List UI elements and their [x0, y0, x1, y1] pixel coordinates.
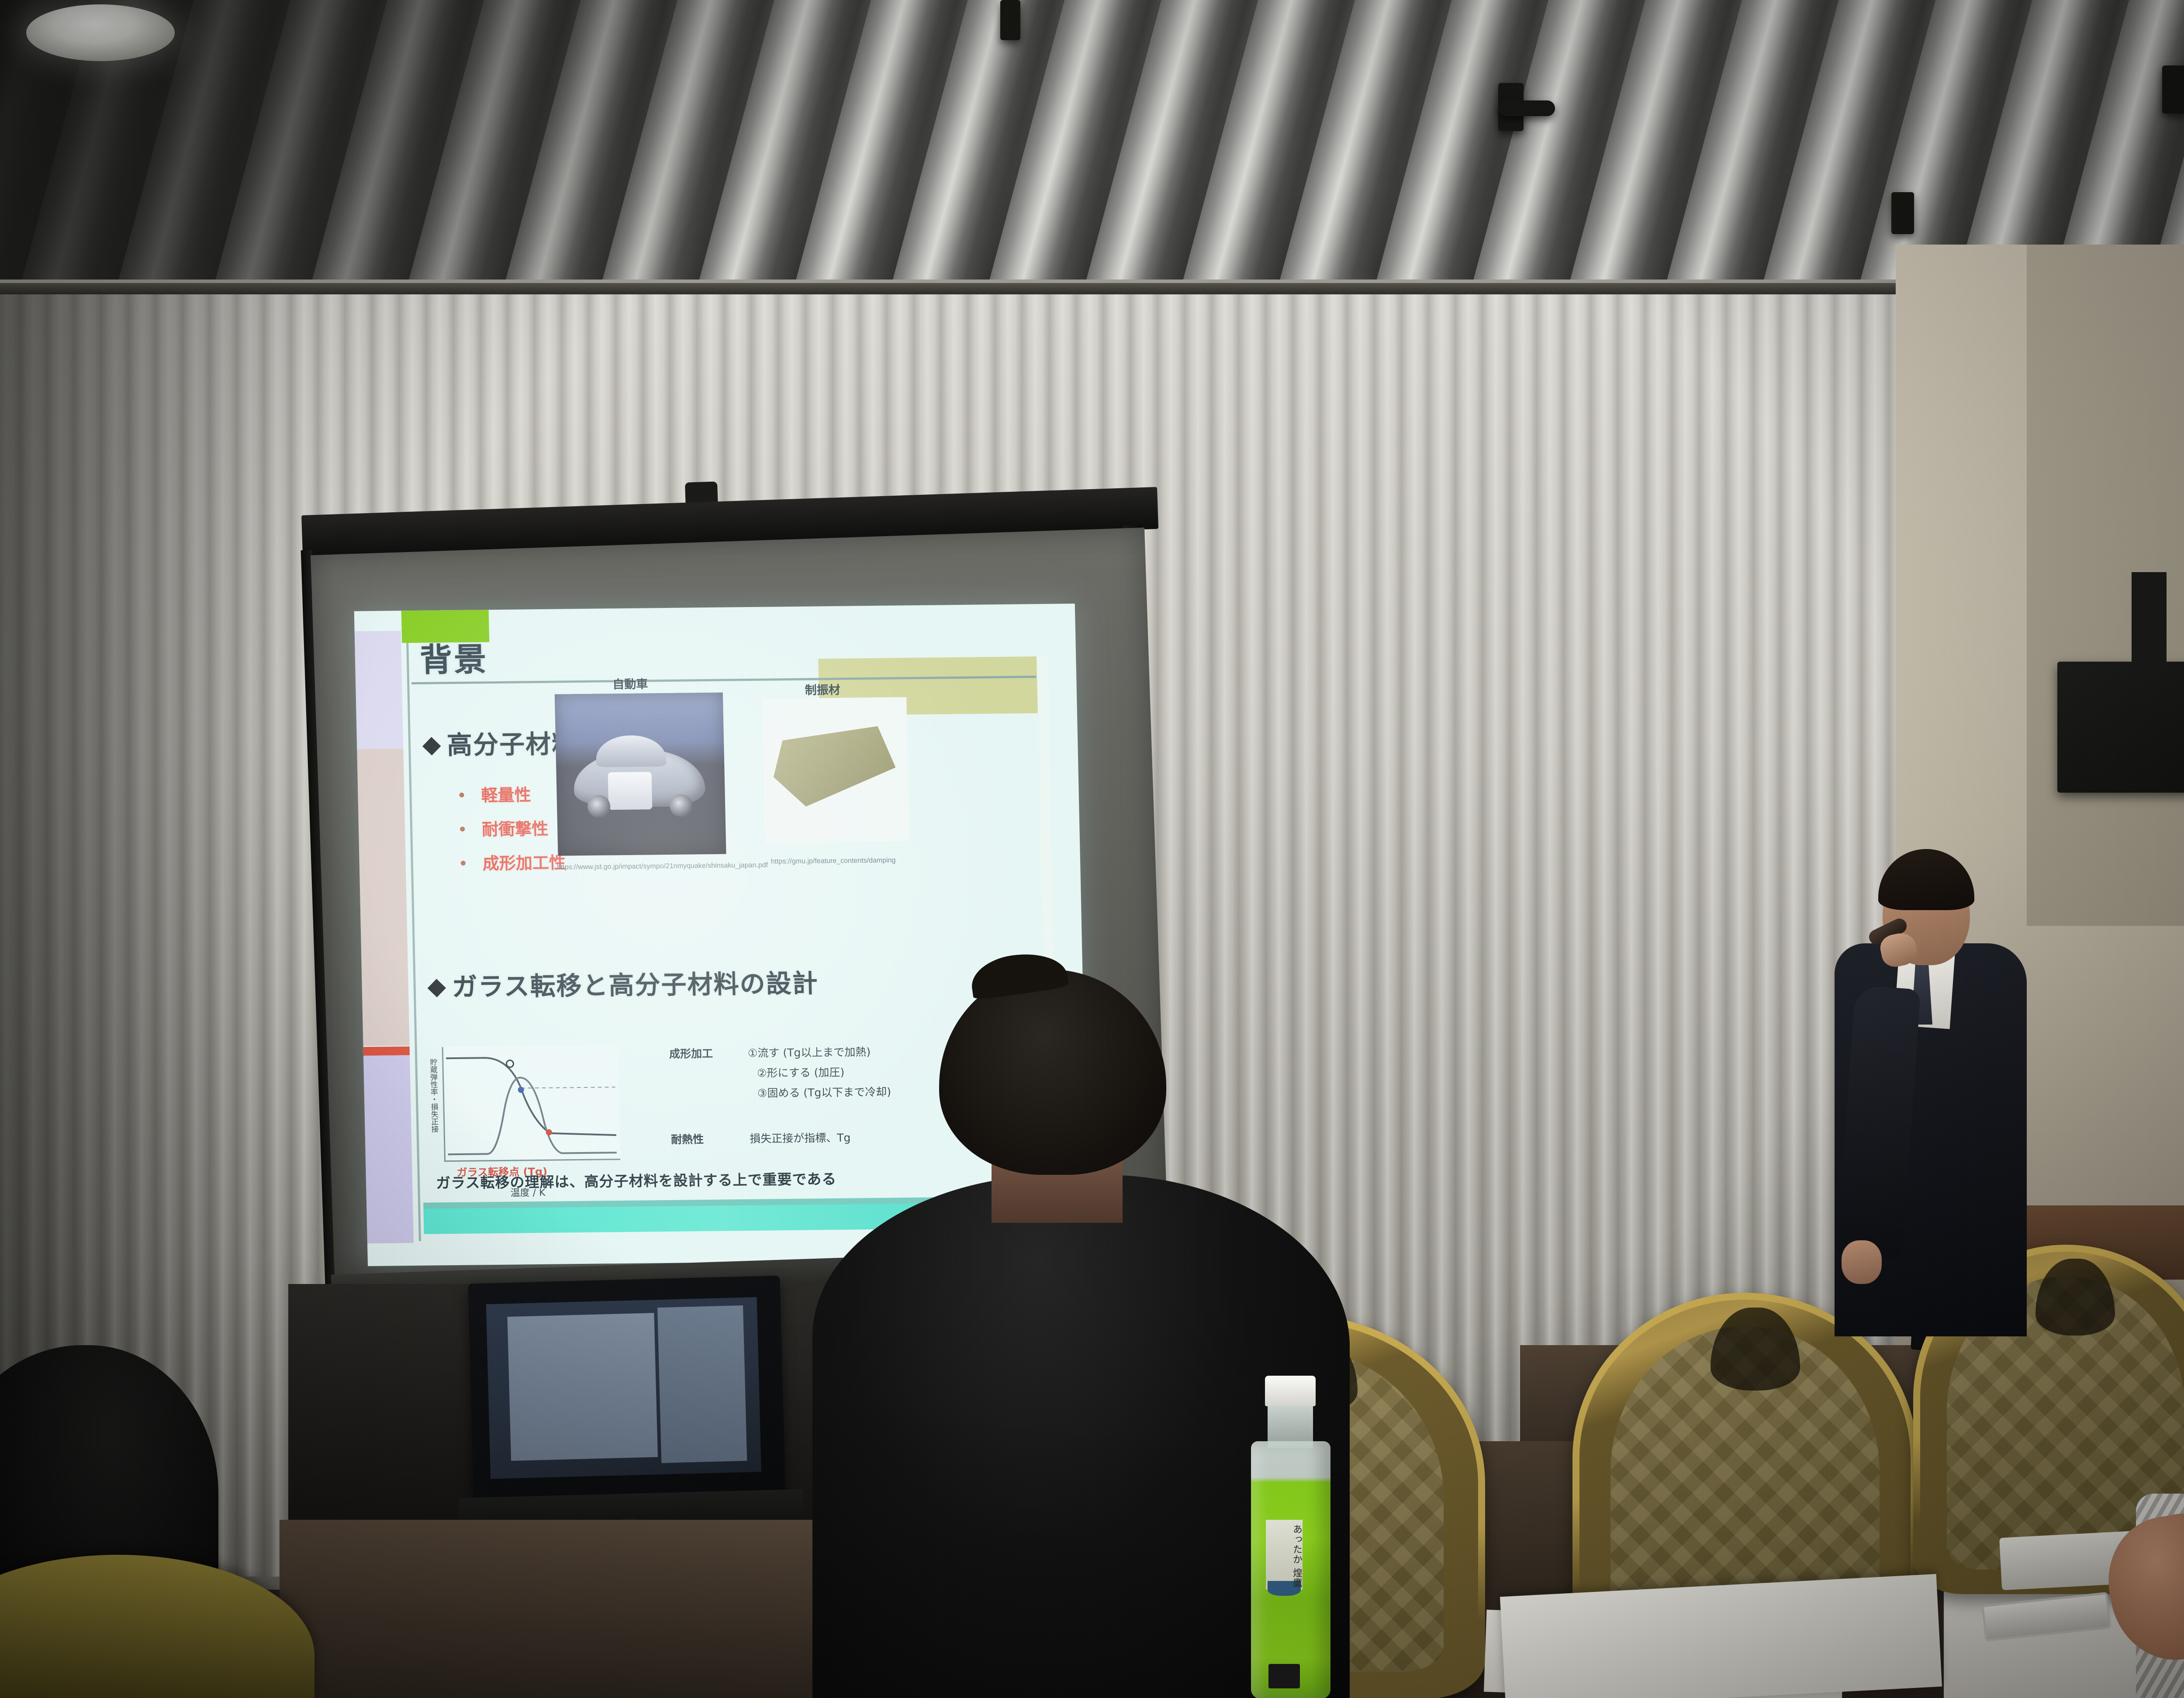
- image-caption-damper: 制振材: [805, 680, 840, 698]
- slide-sidebar-lavender: [355, 631, 404, 749]
- heat-resistance-label: 耐熱性: [671, 1130, 704, 1149]
- green-tea-bottle[interactable]: あったか 煌鷹: [1241, 1376, 1341, 1698]
- presenter-lower-hand: [1842, 1240, 1882, 1284]
- slide-right-strip-light: [1037, 656, 1054, 980]
- chart-curves-svg: [443, 1045, 620, 1160]
- speaker-mount-bracket: [2132, 572, 2167, 668]
- section1-diamond-bullet-icon: [422, 737, 441, 755]
- damper-photo: [762, 697, 909, 842]
- section2-diamond-bullet-icon: [428, 979, 446, 997]
- slide-conclusion-text: ガラス転移の理解は、高分子材料を設計する上で重要である: [436, 1167, 837, 1193]
- section1-bullet-2: 耐衝撃性: [482, 815, 549, 840]
- bottle-cap[interactable]: [1265, 1376, 1316, 1406]
- curtain-rail: [0, 283, 1904, 294]
- damper-slab-shape: [772, 724, 896, 808]
- red-bullet-dot-3: [461, 861, 466, 866]
- section2-heading: ガラス転移と高分子材料の設計: [452, 963, 819, 1003]
- ceiling-track-bar: [1498, 100, 1555, 116]
- glass-transition-chart: [442, 1045, 621, 1162]
- chart-y-axis-label: 貯蔵弾性率・損失正接: [427, 1058, 440, 1150]
- audience-head: [939, 970, 1166, 1175]
- slide-sidebar-lavender-lower: [363, 1055, 414, 1243]
- bottle-bottom-tag: [1268, 1664, 1300, 1688]
- ceiling-spot-3: [2162, 66, 2184, 114]
- ceiling-light-1: [26, 4, 175, 61]
- slide-sidebar-red-accent: [363, 1046, 410, 1056]
- slide-title: 背景: [419, 633, 488, 681]
- bottle-label-text: あったか 煌鷹: [1267, 1524, 1302, 1588]
- ceiling-spot-4: [1000, 0, 1020, 40]
- process-label: 成形加工: [669, 1044, 713, 1063]
- image-caption-car: 自動車: [612, 674, 648, 692]
- car-window-shape: [608, 772, 653, 810]
- section1-bullet-3: 成形加工性: [482, 849, 566, 874]
- car-image-source-url: https://www.jst.go.jp/impact/sympo/21nmy…: [557, 860, 768, 873]
- laptop-side-panel: [657, 1305, 747, 1463]
- car-wheel-right: [670, 794, 693, 817]
- damper-image-source-url: https://gmu.jp/feature_contents/damping: [771, 855, 896, 866]
- bottle-neck: [1268, 1405, 1313, 1448]
- section1-bullet-1: 軽量性: [481, 781, 531, 806]
- laptop-display: [486, 1297, 761, 1479]
- laptop-document-window: [507, 1313, 658, 1461]
- wall-mounted-speaker: [2057, 662, 2184, 793]
- ceiling-spot-2: [1891, 192, 1914, 234]
- presenter-hair: [1878, 849, 1974, 910]
- car-photo: [555, 693, 726, 856]
- presenter-laptop[interactable]: [468, 1276, 785, 1507]
- red-bullet-dot-2: [460, 827, 465, 832]
- car-cabin-shape: [596, 735, 667, 767]
- slide-sidebar-tan: [357, 749, 409, 1046]
- presenter-standing: [1804, 856, 2040, 1393]
- car-wheel-left: [587, 795, 611, 818]
- conference-room-photo: 背景 高分子材料 軽量性 耐衝撃性 成形加工性 自動車 htt: [0, 0, 2184, 1698]
- red-bullet-dot-1: [459, 793, 464, 797]
